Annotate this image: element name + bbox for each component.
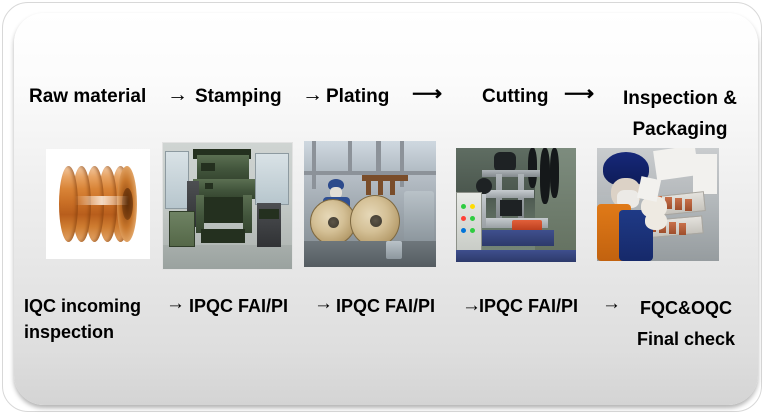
qc-step-ipqc-fai-pi-3: IPQC FAI/PI xyxy=(479,293,578,319)
qc-step-fqc-oqc-final-check: FQC&OQCFinal check xyxy=(626,293,746,355)
photo-inspection-packaging xyxy=(597,148,719,261)
process-photo-row xyxy=(14,141,758,273)
photo-cutting-machine xyxy=(456,148,576,262)
photo-raw-material-copper-coils xyxy=(46,149,150,259)
qc-flow-row: IQC incoming inspection → IPQC FAI/PI → … xyxy=(14,281,758,359)
process-step-raw-material: Raw material xyxy=(29,83,146,110)
qc-step-iqc-incoming-inspection: IQC incoming inspection xyxy=(24,293,141,345)
arrow-right-icon: → xyxy=(314,291,333,317)
photo-stamping-press xyxy=(162,142,293,270)
arrow-right-icon: → xyxy=(167,81,188,108)
arrow-right-icon: → xyxy=(166,291,185,317)
qc-step-ipqc-fai-pi-1: IPQC FAI/PI xyxy=(189,293,288,319)
outer-frame: Raw material → Stamping → Plating ⟶ Cutt… xyxy=(2,2,762,412)
process-step-stamping: Stamping xyxy=(195,83,282,110)
qc-step-ipqc-fai-pi-2: IPQC FAI/PI xyxy=(336,293,435,319)
process-step-plating: Plating xyxy=(326,83,389,110)
arrow-right-long-icon: ⟶ xyxy=(412,80,441,107)
process-flow-row: Raw material → Stamping → Plating ⟶ Cutt… xyxy=(14,69,758,139)
photo-plating-line xyxy=(304,141,436,267)
arrow-right-long-icon: ⟶ xyxy=(564,80,593,107)
process-flow-panel: Raw material → Stamping → Plating ⟶ Cutt… xyxy=(14,13,758,405)
arrow-right-icon: → xyxy=(302,81,323,108)
process-step-cutting: Cutting xyxy=(482,83,548,110)
process-step-inspection-packaging: Inspection &Packaging xyxy=(614,83,746,145)
arrow-right-icon: → xyxy=(602,291,621,317)
